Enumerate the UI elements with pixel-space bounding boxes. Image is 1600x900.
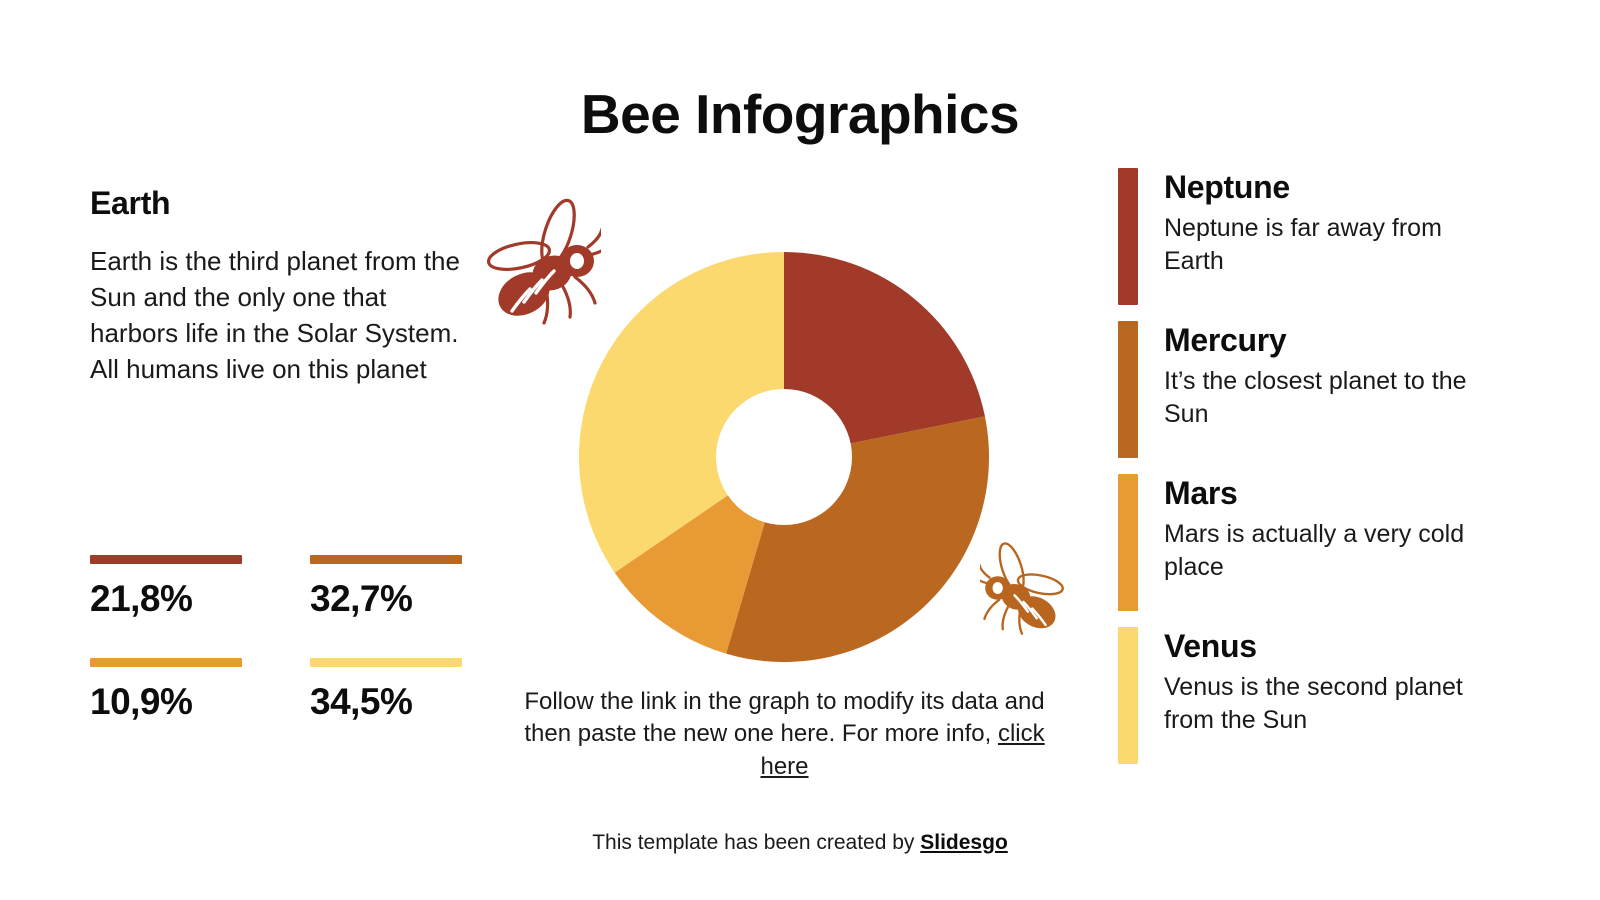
legend-item-mercury[interactable]: Mercury It’s the closest planet to the S… xyxy=(1118,321,1538,458)
slide-root: Bee Infographics Earth Earth is the thir… xyxy=(0,0,1600,900)
legend-description: Mars is actually a very cold place xyxy=(1164,518,1494,586)
legend-description: It’s the closest planet to the Sun xyxy=(1164,365,1494,433)
donut-chart-svg[interactable] xyxy=(579,252,989,662)
legend-item-venus[interactable]: Venus Venus is the second planet from th… xyxy=(1118,627,1538,764)
footer-credit: This template has been created by Slides… xyxy=(0,831,1600,855)
stat-value: 21,8% xyxy=(90,578,245,620)
stat-color-bar xyxy=(310,555,462,564)
stat-value: 34,5% xyxy=(310,681,465,723)
stat-value: 32,7% xyxy=(310,578,465,620)
legend-color-bar xyxy=(1118,474,1138,611)
donut-center-hole xyxy=(716,389,852,525)
donut-chart[interactable] xyxy=(579,252,989,662)
stat-color-bar xyxy=(90,555,242,564)
slidesgo-link[interactable]: Slidesgo xyxy=(920,831,1008,854)
legend-title: Mercury xyxy=(1164,323,1494,358)
legend-description: Venus is the second planet from the Sun xyxy=(1164,671,1494,739)
earth-heading: Earth xyxy=(90,185,470,222)
chart-caption-text: Follow the link in the graph to modify i… xyxy=(524,688,1044,747)
chart-caption: Follow the link in the graph to modify i… xyxy=(512,686,1057,783)
stat-item: 32,7% xyxy=(310,555,465,620)
legend-item-mars[interactable]: Mars Mars is actually a very cold place xyxy=(1118,474,1538,611)
bee-illustration-icon xyxy=(476,193,601,333)
planet-legend: Neptune Neptune is far away from Earth M… xyxy=(1118,168,1538,780)
stat-item: 21,8% xyxy=(90,555,245,620)
legend-description: Neptune is far away from Earth xyxy=(1164,212,1494,280)
earth-text-block: Earth Earth is the third planet from the… xyxy=(90,185,470,388)
bee-icon xyxy=(476,193,601,333)
legend-text: Venus Venus is the second planet from th… xyxy=(1164,627,1494,738)
legend-item-neptune[interactable]: Neptune Neptune is far away from Earth xyxy=(1118,168,1538,305)
legend-title: Neptune xyxy=(1164,170,1494,205)
legend-text: Mars Mars is actually a very cold place xyxy=(1164,474,1494,585)
page-title: Bee Infographics xyxy=(0,82,1600,146)
legend-title: Venus xyxy=(1164,629,1494,664)
stat-item: 34,5% xyxy=(310,658,465,723)
legend-text: Neptune Neptune is far away from Earth xyxy=(1164,168,1494,279)
stats-grid: 21,8% 32,7% 10,9% 34,5% xyxy=(90,555,465,723)
stat-value: 10,9% xyxy=(90,681,245,723)
legend-color-bar xyxy=(1118,627,1138,764)
stat-item: 10,9% xyxy=(90,658,245,723)
legend-text: Mercury It’s the closest planet to the S… xyxy=(1164,321,1494,432)
legend-color-bar xyxy=(1118,168,1138,305)
earth-description: Earth is the third planet from the Sun a… xyxy=(90,244,470,388)
legend-title: Mars xyxy=(1164,476,1494,511)
footer-text: This template has been created by xyxy=(592,831,920,854)
stat-color-bar xyxy=(90,658,242,667)
bee-illustration-icon xyxy=(980,538,1072,641)
bee-icon xyxy=(980,538,1072,641)
stat-color-bar xyxy=(310,658,462,667)
legend-color-bar xyxy=(1118,321,1138,458)
